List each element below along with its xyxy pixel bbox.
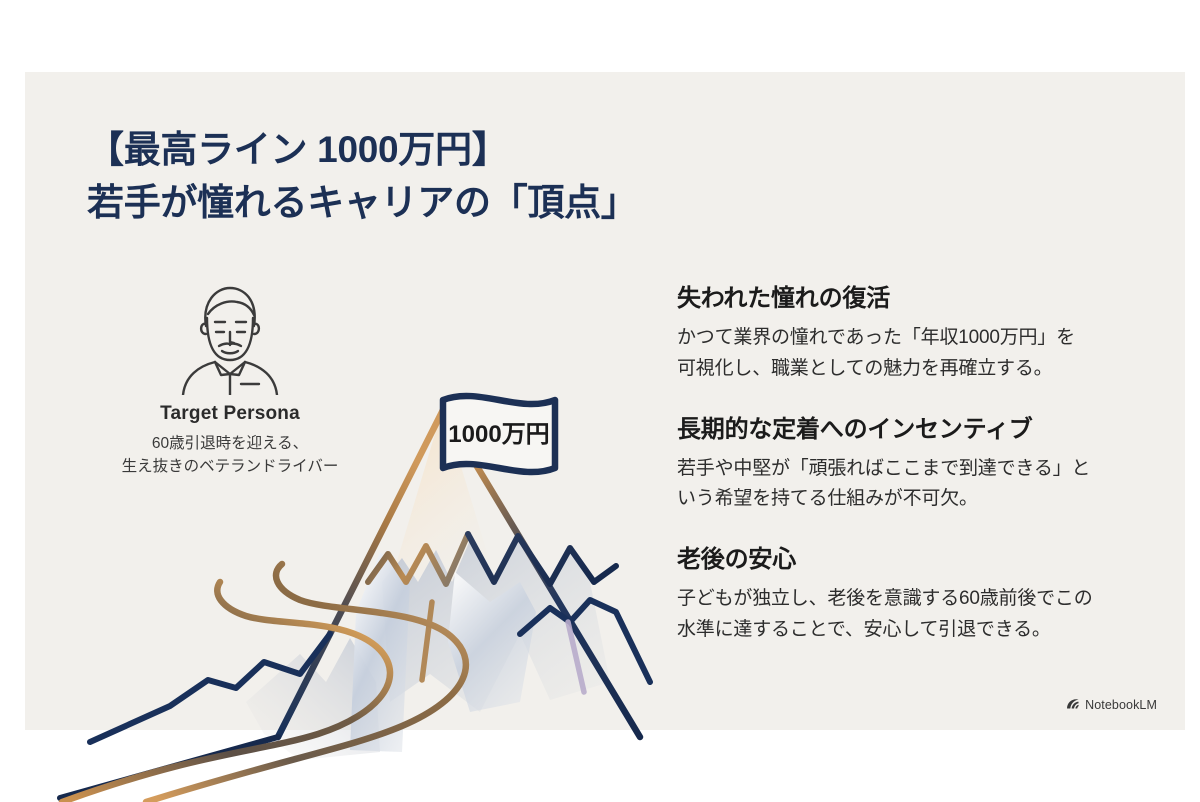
point-body-3: 子どもが独立し、老後を意識する60歳前後でこの 水準に達することで、安心して引退… bbox=[677, 584, 1177, 646]
target-persona-block: Target Persona 60歳引退時を迎える、 生え抜きのベテランドライバ… bbox=[80, 280, 380, 479]
point-body-3-line-2: 水準に達することで、安心して引退できる。 bbox=[677, 615, 1177, 646]
winding-road-outer bbox=[62, 582, 390, 802]
foothill-right-ridge bbox=[520, 600, 650, 682]
point-body-2-line-2: いう希望を持てる仕組みが不可欠。 bbox=[677, 484, 1177, 515]
persona-label: Target Persona bbox=[80, 403, 380, 425]
point-body-1: かつて業界の憧れであった「年収1000万円」を 可視化し、職業としての魅力を再確… bbox=[677, 323, 1177, 385]
mountain-base-left bbox=[60, 737, 278, 798]
notebooklm-icon bbox=[1065, 697, 1080, 712]
flag-label: 1000万円 bbox=[448, 421, 549, 448]
foothill-left-ridge bbox=[90, 634, 330, 742]
mountain-right-slope bbox=[443, 410, 640, 737]
slide-stage: 【最高ライン 1000万円】 若手が憧れるキャリアの「頂点」 bbox=[0, 0, 1200, 800]
notebooklm-watermark: NotebookLM bbox=[1065, 697, 1157, 712]
point-item-3: 老後の安心 子どもが独立し、老後を意識する60歳前後でこの 水準に達することで、… bbox=[677, 545, 1177, 646]
point-body-3-line-1: 子どもが独立し、老後を意識する60歳前後でこの bbox=[677, 584, 1177, 615]
point-body-2: 若手や中堅が「頑張ればここまで到達できる」と いう希望を持てる仕組みが不可欠。 bbox=[677, 454, 1177, 516]
persona-description: 60歳引退時を迎える、 生え抜きのベテランドライバー bbox=[80, 432, 380, 479]
point-item-2: 長期的な定着へのインセンティブ 若手や中堅が「頑張ればここまで到達できる」と い… bbox=[677, 415, 1177, 516]
point-item-1: 失われた憧れの復活 かつて業界の憧れであった「年収1000万円」を 可視化し、職… bbox=[677, 284, 1177, 385]
winding-road-inner bbox=[146, 564, 466, 802]
page-title: 【最高ライン 1000万円】 若手が憧れるキャリアの「頂点」 bbox=[87, 124, 638, 229]
flag-icon bbox=[443, 396, 555, 472]
elderly-man-portrait-icon bbox=[175, 280, 285, 395]
point-heading-2: 長期的な定着へのインセンティブ bbox=[677, 415, 1177, 445]
points-list: 失われた憧れの復活 かつて業界の憧れであった「年収1000万円」を 可視化し、職… bbox=[677, 284, 1177, 646]
point-heading-1: 失われた憧れの復活 bbox=[677, 284, 1177, 314]
point-heading-3: 老後の安心 bbox=[677, 545, 1177, 575]
persona-description-line-1: 60歳引退時を迎える、 bbox=[80, 432, 380, 455]
page-title-line-1: 【最高ライン 1000万円】 bbox=[87, 124, 638, 177]
mountain-snowline-right bbox=[468, 534, 616, 584]
mountain-snowline-left bbox=[368, 534, 468, 584]
point-body-1-line-2: 可視化し、職業としての魅力を再確立する。 bbox=[677, 354, 1177, 385]
ridge-accent-right bbox=[568, 622, 584, 692]
point-body-1-line-1: かつて業界の憧れであった「年収1000万円」を bbox=[677, 323, 1177, 354]
point-body-2-line-1: 若手や中堅が「頑張ればここまで到達できる」と bbox=[677, 454, 1177, 485]
slide-canvas: 【最高ライン 1000万円】 若手が憧れるキャリアの「頂点」 bbox=[25, 72, 1185, 730]
notebooklm-label: NotebookLM bbox=[1085, 698, 1157, 712]
page-title-line-2: 若手が憧れるキャリアの「頂点」 bbox=[87, 177, 638, 230]
ridge-accent-center bbox=[422, 602, 432, 680]
persona-description-line-2: 生え抜きのベテランドライバー bbox=[80, 455, 380, 478]
